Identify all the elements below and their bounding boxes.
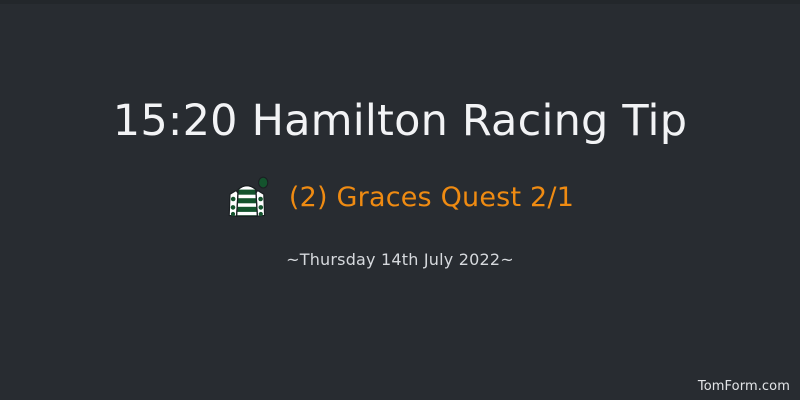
racing-silks-icon [226, 176, 270, 220]
tip-row[interactable]: (2) Graces Quest 2/1 [226, 176, 574, 220]
card-content: 15:20 Hamilton Racing Tip [0, 0, 800, 400]
page-title: 15:20 Hamilton Racing Tip [113, 96, 687, 147]
tip-selection-text: (2) Graces Quest 2/1 [289, 184, 574, 211]
racing-tip-card: 15:20 Hamilton Racing Tip [0, 0, 800, 400]
race-date: ~Thursday 14th July 2022~ [286, 250, 514, 269]
site-watermark: TomForm.com [698, 379, 790, 394]
